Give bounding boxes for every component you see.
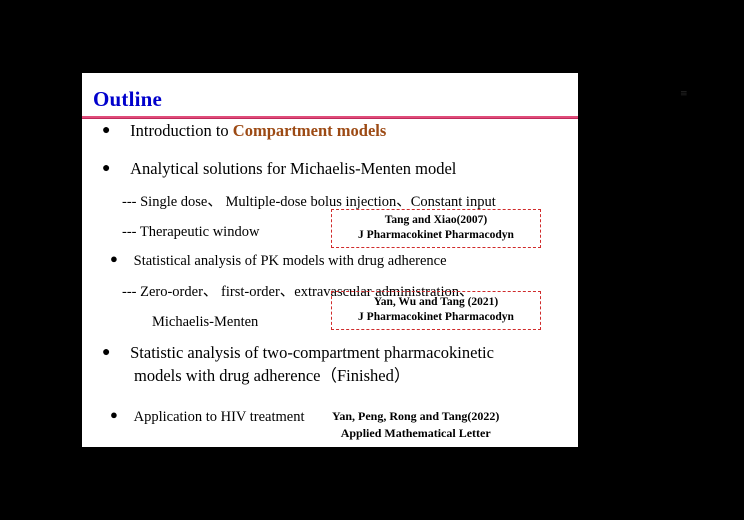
corner-watermark-icon: ≡ xyxy=(680,88,706,100)
bullet-item-hiv-treatment-text: Application to HIV treatment xyxy=(134,409,305,425)
bullet-item-statistical-pk: ● Statistical analysis of PK models with… xyxy=(110,252,447,270)
bullet-item-introduction-text: Introduction to xyxy=(130,121,233,140)
bullet-icon: ● xyxy=(110,252,124,265)
sub-item-single-dose-text: --- Single dose、 Multiple-dose bolus inj… xyxy=(122,194,496,210)
bullet-item-two-compartment-line-2-row: models with drug adherence（Finished） xyxy=(134,366,410,386)
citation-line-2: Applied Mathematical Letter xyxy=(332,425,499,442)
bullet-item-introduction-accent: Compartment models xyxy=(233,121,387,140)
citation-box-tang-xiao-2007: Tang and Xiao(2007) J Pharmacokinet Phar… xyxy=(331,209,541,248)
bullet-item-analytical-solutions: ● Analytical solutions for Michaelis-Men… xyxy=(102,159,456,179)
slide: Outline ● Introduction to Compartment mo… xyxy=(82,73,578,447)
bullet-item-two-compartment: ● Statistic analysis of two-compartment … xyxy=(102,343,494,363)
bullet-icon: ● xyxy=(102,346,116,360)
bullet-icon: ● xyxy=(102,124,116,138)
citation-line-2: J Pharmacokinet Pharmacodyn xyxy=(338,228,534,243)
slide-title: Outline xyxy=(93,87,162,111)
bullet-item-statistical-pk-text: Statistical analysis of PK models with d… xyxy=(134,253,447,269)
bullet-icon: ● xyxy=(102,162,116,176)
sub-item-therapeutic-window-text: --- Therapeutic window xyxy=(122,224,259,240)
bullet-item-analytical-solutions-text: Analytical solutions for Michaelis-Mente… xyxy=(130,159,456,178)
bullet-item-two-compartment-line-2: models with drug adherence（Finished） xyxy=(134,366,410,385)
bullet-item-introduction: ● Introduction to Compartment models xyxy=(102,121,386,141)
citation-line-1: Yan, Wu and Tang (2021) xyxy=(338,295,534,310)
sub-item-michaelis-menten-text: Michaelis-Menten xyxy=(152,314,258,330)
citation-line-2: J Pharmacokinet Pharmacodyn xyxy=(338,310,534,325)
citation-box-yan-wu-tang-2021: Yan, Wu and Tang (2021) J Pharmacokinet … xyxy=(331,291,541,330)
citation-yan-peng-rong-tang-2022: Yan, Peng, Rong and Tang(2022) Applied M… xyxy=(332,408,499,442)
presentation-canvas: ≡ Outline ● Introduction to Compartment … xyxy=(0,0,744,520)
sub-item-therapeutic-window: --- Therapeutic window xyxy=(122,223,259,241)
citation-line-1: Tang and Xiao(2007) xyxy=(338,213,534,228)
bullet-item-hiv-treatment: ● Application to HIV treatment xyxy=(110,408,305,426)
bullet-icon: ● xyxy=(110,408,124,421)
slide-body: ● Introduction to Compartment models ● A… xyxy=(82,117,578,447)
bullet-item-two-compartment-line-1: Statistic analysis of two-compartment ph… xyxy=(130,343,494,362)
sub-item-michaelis-menten: Michaelis-Menten xyxy=(152,313,258,331)
citation-line-1: Yan, Peng, Rong and Tang(2022) xyxy=(332,409,499,423)
